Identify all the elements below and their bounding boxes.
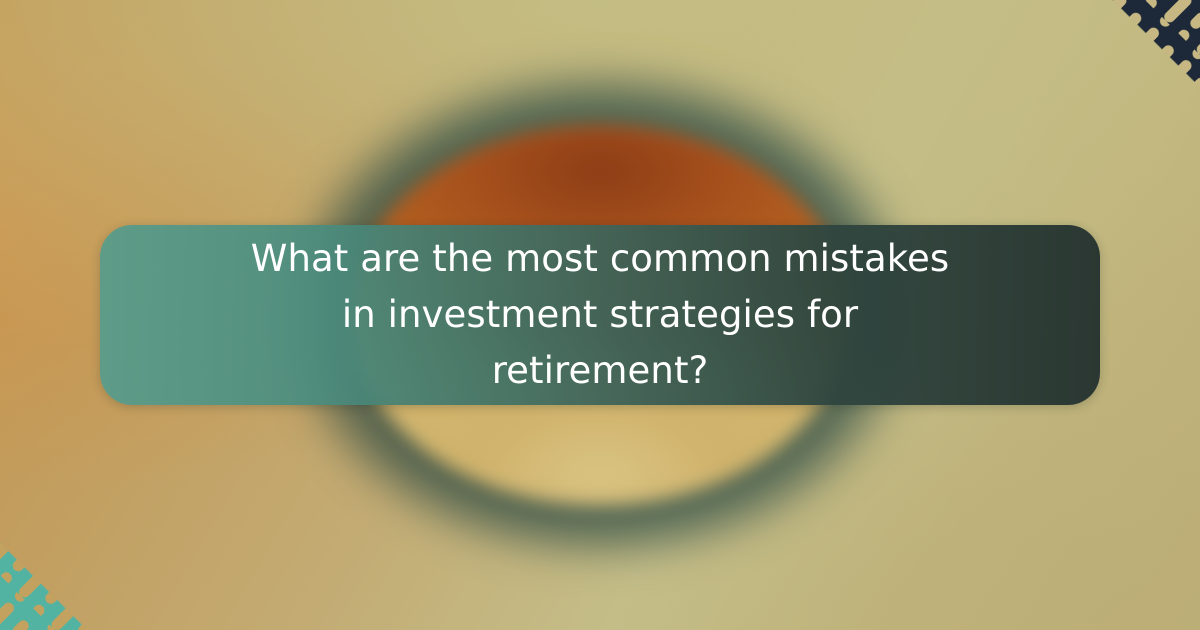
question-title: What are the most common mistakes in inv… <box>250 231 950 399</box>
dash-pattern-top-right-icon <box>1010 0 1200 190</box>
corner-decoration-bottom-left <box>0 440 190 630</box>
dash-pattern-bottom-left-icon <box>0 440 190 630</box>
corner-fill-top-right <box>1010 0 1200 190</box>
question-card: What are the most common mistakes in inv… <box>100 225 1100 405</box>
corner-decoration-top-right <box>1010 0 1200 190</box>
corner-fill-bottom-left <box>0 440 190 630</box>
share-card-canvas: What are the most common mistakes in inv… <box>0 0 1200 630</box>
